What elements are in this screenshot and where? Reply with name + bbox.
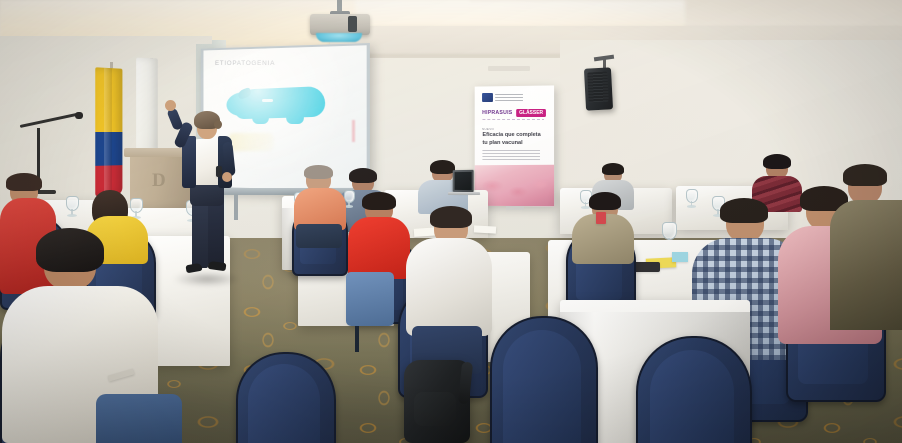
slide-pig-detail bbox=[262, 99, 273, 102]
conference-room-photo: ETIOPATOGENIA D HIPRASUIS GLÄSSER NUEVO … bbox=[0, 0, 902, 443]
attendee-hair bbox=[36, 228, 104, 272]
attendee-hair bbox=[602, 163, 624, 175]
banner-kicker: NUEVO bbox=[482, 127, 494, 131]
wall-vent bbox=[488, 66, 530, 71]
banner-headline: Eficacia que completa tu plan vacunal bbox=[482, 132, 542, 147]
attendee-hair bbox=[349, 168, 377, 183]
microphone-icon bbox=[75, 112, 83, 119]
slide-pig-leg-icon bbox=[252, 112, 269, 124]
banner-divider bbox=[482, 119, 544, 120]
slide-margin-mark bbox=[352, 120, 355, 142]
backpack-pocket bbox=[414, 392, 456, 426]
attendee-torso bbox=[348, 217, 410, 279]
banner-brand-name: HIPRASUIS bbox=[482, 110, 512, 116]
attendee-hair bbox=[763, 154, 791, 169]
colombia-flag-fold bbox=[104, 68, 112, 196]
attendee-hair bbox=[843, 164, 887, 186]
attendee-hair bbox=[304, 165, 333, 179]
attendee-hair bbox=[362, 192, 396, 210]
attendee-hair bbox=[430, 160, 455, 174]
presenter-shadow bbox=[172, 272, 242, 286]
slide-pig-leg-icon bbox=[286, 111, 304, 124]
banner-body-text bbox=[482, 150, 540, 162]
paper-handout bbox=[474, 225, 496, 233]
laptop-screen bbox=[455, 172, 472, 190]
slide-title: ETIOPATOGENIA bbox=[215, 60, 313, 67]
attendee-lower-body bbox=[296, 224, 342, 248]
presenter-leg bbox=[192, 196, 208, 268]
sticky-note bbox=[672, 252, 688, 262]
attendee-jeans bbox=[96, 394, 182, 443]
attendee-hair bbox=[430, 206, 472, 228]
presenter-hand bbox=[165, 100, 176, 111]
projector-vent-icon bbox=[348, 16, 357, 32]
speaker-grille-icon bbox=[587, 71, 609, 102]
banner-company-logo-icon bbox=[482, 93, 493, 102]
attendee-hair bbox=[720, 198, 768, 223]
slide-accent-shape bbox=[229, 133, 274, 151]
attendee-hair bbox=[589, 192, 621, 210]
presenter-leg bbox=[208, 196, 224, 266]
presenter-clicker bbox=[216, 166, 222, 177]
lanyard-badge bbox=[596, 212, 606, 224]
presenter-hair-bun bbox=[214, 120, 222, 129]
banner-product-badge: GLÄSSER bbox=[516, 108, 546, 116]
attendee-torso bbox=[830, 200, 902, 330]
attendee-hair bbox=[6, 173, 42, 191]
screen-stand-leg bbox=[234, 194, 238, 220]
projector-lens-icon bbox=[316, 33, 362, 42]
banner-stand-base bbox=[506, 206, 524, 210]
podium-logo: D bbox=[152, 168, 174, 194]
attendee-jeans bbox=[346, 272, 394, 326]
laptop-keyboard bbox=[448, 192, 480, 195]
banner-logo-text bbox=[495, 94, 523, 102]
attendee-torso bbox=[406, 238, 492, 336]
ceiling-projector bbox=[310, 14, 370, 35]
presenter-hand bbox=[222, 172, 232, 182]
